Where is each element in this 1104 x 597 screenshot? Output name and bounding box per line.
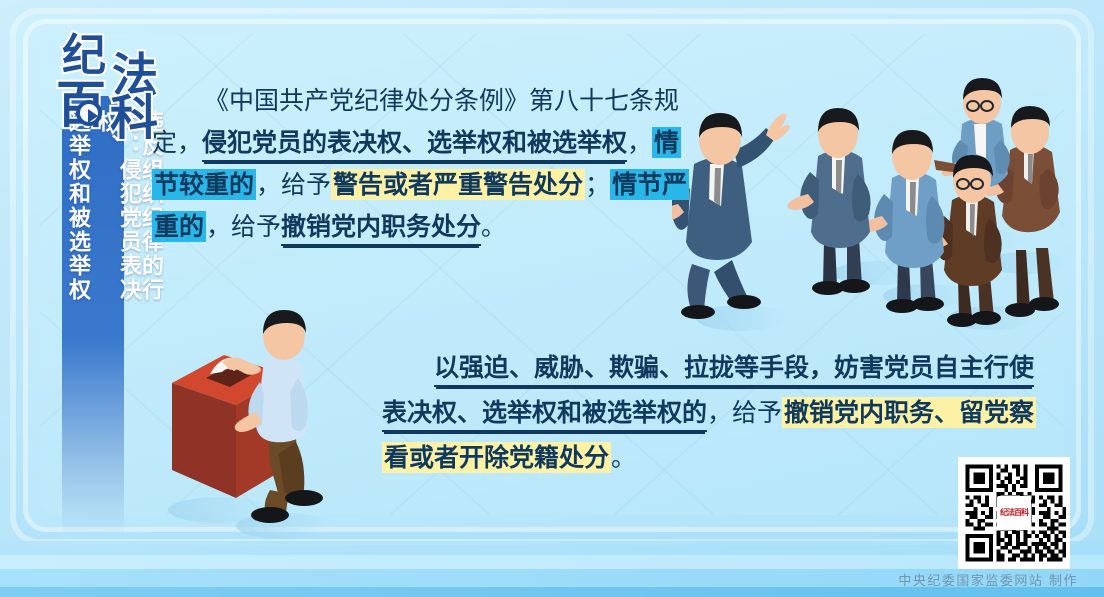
ballot-illustration xyxy=(160,300,390,555)
logo-char-ke: 科 xyxy=(110,94,158,142)
people-illustration xyxy=(672,28,1104,348)
logo-char-ji: 纪 xyxy=(62,34,106,78)
infographic-poster: 纪 法 百 科 违反组织纪律的行为：侵犯党员表决权、 选举权和被选举权 《中国共… xyxy=(0,0,1104,597)
footer-credit: 中央纪委国家监委网站 制作 xyxy=(898,570,1078,589)
qr-center-logo: 纪法 百科 xyxy=(997,496,1031,530)
p1l4-seg1: 重的 xyxy=(152,211,206,242)
p1l3-seg5: 情节严 xyxy=(610,169,689,200)
paragraph2-line2: 表决权、选举权和被选举权的，给予撤销党内职务、留党察 xyxy=(382,400,1002,425)
p1l3-seg2: ，给予 xyxy=(256,170,331,199)
qr-logo-line1: 纪法 xyxy=(1000,509,1014,517)
banner-text-column-left: 选举权和被选举权 xyxy=(66,110,88,520)
qr-code[interactable]: 纪法 百科 xyxy=(958,457,1070,569)
p1l3-seg1: 节较重的 xyxy=(152,169,256,200)
p1l2-seg4: 情 xyxy=(652,127,681,158)
p1l3-seg4: ； xyxy=(585,170,610,199)
p1l2-seg2: 侵犯党员的表决权、选举权和被选举权 xyxy=(202,128,627,162)
p1l4-seg3: 撤销党内职务处分 xyxy=(281,212,481,246)
p2l2-seg1: 表决权、选举权和被选举权的 xyxy=(382,398,707,432)
paragraph2-line1: 以强迫、威胁、欺骗、拉拢等手段，妨害党员自主行使 xyxy=(382,355,1002,380)
p1l3-seg3: 警告或者严重警告处分 xyxy=(331,169,585,200)
p2l1-seg1: 以强迫、威胁、欺骗、拉拢等手段，妨害党员自主行使 xyxy=(434,353,1034,387)
p2l2-seg2: ，给予 xyxy=(707,398,782,427)
regulation-paragraph-2: 以强迫、威胁、欺骗、拉拢等手段，妨害党员自主行使 表决权、选举权和被选举权的，给… xyxy=(382,355,1002,490)
play-icon[interactable] xyxy=(76,100,102,126)
vertical-title-banner: 违反组织纪律的行为：侵犯党员表决权、 选举权和被选举权 xyxy=(62,96,124,536)
paragraph1-line3: 节较重的，给予警告或者严重警告处分；情节严 xyxy=(152,172,672,197)
p1l1-seg1: 《中国共产党纪律处分条例》第八十七条规 xyxy=(204,86,679,115)
regulation-paragraph-1: 《中国共产党纪律处分条例》第八十七条规 定，侵犯党员的表决权、选举权和被选举权，… xyxy=(152,88,672,256)
play-triangle-icon xyxy=(88,109,98,123)
paragraph1-line1: 《中国共产党纪律处分条例》第八十七条规 xyxy=(152,88,672,113)
qr-logo-line2: 百科 xyxy=(1014,509,1028,517)
p2l3-seg2: 。 xyxy=(611,443,636,472)
p2l3-seg1: 看或者开除党籍处分 xyxy=(382,442,611,473)
p1l4-seg2: ，给予 xyxy=(206,212,281,241)
bottom-band-2 xyxy=(0,555,1104,569)
paragraph1-line4: 重的，给予撤销党内职务处分。 xyxy=(152,214,672,239)
p2l2-seg3: 撤销党内职务、留党察 xyxy=(782,397,1036,428)
p1l2-seg3: ， xyxy=(627,128,652,157)
paragraph1-line2: 定，侵犯党员的表决权、选举权和被选举权，情 xyxy=(152,130,672,155)
paragraph2-line3: 看或者开除党籍处分。 xyxy=(382,445,1002,470)
brand-logo: 纪 法 百 科 xyxy=(54,30,172,142)
p1l4-seg4: 。 xyxy=(481,212,506,241)
